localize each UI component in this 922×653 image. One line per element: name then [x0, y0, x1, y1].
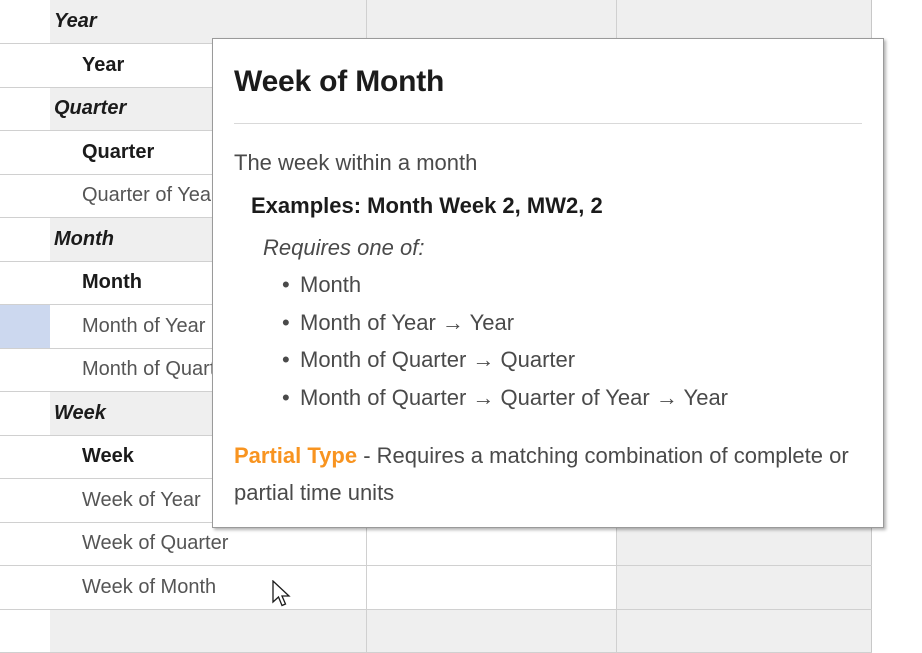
requires-item-label: Month [300, 272, 361, 297]
requires-item-label: Month of Year → Year [300, 310, 514, 335]
requires-list-item: •Month of Quarter → Quarter of Year → Ye… [282, 379, 862, 417]
row-indent-cell[interactable] [0, 566, 50, 610]
row-indent-cell[interactable] [0, 479, 50, 523]
time-unit-extra-cell[interactable] [616, 522, 871, 566]
time-unit-label: Week of Month [50, 576, 366, 599]
row-indent-cell[interactable] [0, 392, 50, 436]
tooltip-description: The week within a month [234, 150, 862, 176]
time-unit-info-tooltip: Week of Month The week within a month Ex… [212, 38, 884, 528]
row-indent-cell[interactable] [0, 131, 50, 175]
tooltip-partial-type-note: Partial Type - Requires a matching combi… [234, 437, 862, 511]
row-indent-cell[interactable] [0, 0, 50, 44]
requires-list-item: •Month of Year → Year [282, 304, 862, 342]
row-indent-cell[interactable] [0, 522, 50, 566]
table-row[interactable]: Year [0, 0, 871, 44]
time-unit-name-cell[interactable]: Year [50, 0, 366, 44]
time-unit-name-cell[interactable]: Week of Quarter [50, 522, 366, 566]
time-unit-extra-cell[interactable] [616, 566, 871, 610]
row-indent-cell[interactable] [0, 174, 50, 218]
bullet-icon: • [282, 266, 300, 304]
row-selection-marker[interactable] [0, 305, 50, 349]
tooltip-requires-label: Requires one of: [234, 235, 862, 261]
row-indent-cell[interactable] [0, 218, 50, 262]
time-unit-detail-cell[interactable] [366, 0, 616, 44]
tooltip-examples: Examples: Month Week 2, MW2, 2 [234, 193, 862, 219]
requires-item-label: Month of Quarter → Quarter [300, 347, 575, 372]
time-unit-label: Week of Quarter [50, 532, 366, 555]
row-indent-cell[interactable] [0, 87, 50, 131]
tooltip-title: Week of Month [234, 65, 862, 99]
row-indent-cell[interactable] [0, 435, 50, 479]
time-unit-detail-cell[interactable] [366, 566, 616, 610]
table-row[interactable]: Week of Quarter [0, 522, 871, 566]
tooltip-requires-list: •Month•Month of Year → Year•Month of Qua… [234, 266, 862, 416]
row-indent-cell[interactable] [0, 261, 50, 305]
row-indent-cell[interactable] [0, 348, 50, 392]
bullet-icon: • [282, 304, 300, 342]
requires-item-label: Month of Quarter → Quarter of Year → Yea… [300, 385, 728, 410]
time-unit-name-cell[interactable]: Week of Month [50, 566, 366, 610]
time-unit-detail-cell[interactable] [366, 522, 616, 566]
requires-list-item: •Month of Quarter → Quarter [282, 341, 862, 379]
row-indent-cell[interactable] [0, 44, 50, 88]
time-unit-label: Year [50, 10, 366, 33]
requires-list-item: •Month [282, 266, 862, 304]
table-row[interactable]: Week of Month [0, 566, 871, 610]
time-unit-extra-cell[interactable] [616, 0, 871, 44]
bullet-icon: • [282, 341, 300, 379]
partial-type-keyword: Partial Type [234, 443, 357, 468]
bullet-icon: • [282, 379, 300, 417]
tooltip-divider [234, 123, 862, 124]
